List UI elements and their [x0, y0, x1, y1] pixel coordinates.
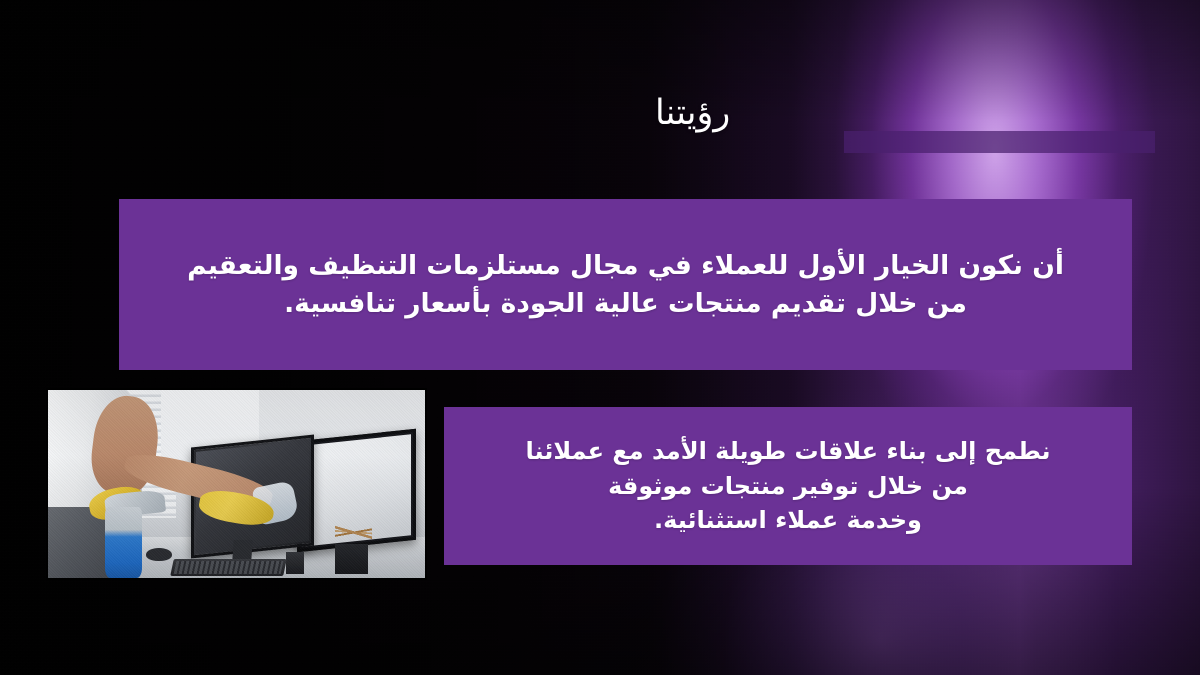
title-underline-bar	[844, 131, 1155, 153]
cleaning-monitor-photo	[48, 390, 425, 578]
vision-statement-secondary-text: نطمح إلى بناء علاقات طويلة الأمد مع عملا…	[470, 434, 1106, 538]
photo-inner	[48, 390, 425, 578]
vision-statement-secondary-box: نطمح إلى بناء علاقات طويلة الأمد مع عملا…	[444, 407, 1132, 565]
page-title: رؤيتنا	[655, 94, 1055, 133]
vision-statement-primary-box: أن نكون الخيار الأول للعملاء في مجال مست…	[119, 199, 1132, 370]
vision-statement-primary-text: أن نكون الخيار الأول للعملاء في مجال مست…	[153, 247, 1098, 322]
photo-shading-overlay	[48, 390, 425, 578]
vision-slide: رؤيتنا أن نكون الخيار الأول للعملاء في م…	[0, 0, 1200, 675]
